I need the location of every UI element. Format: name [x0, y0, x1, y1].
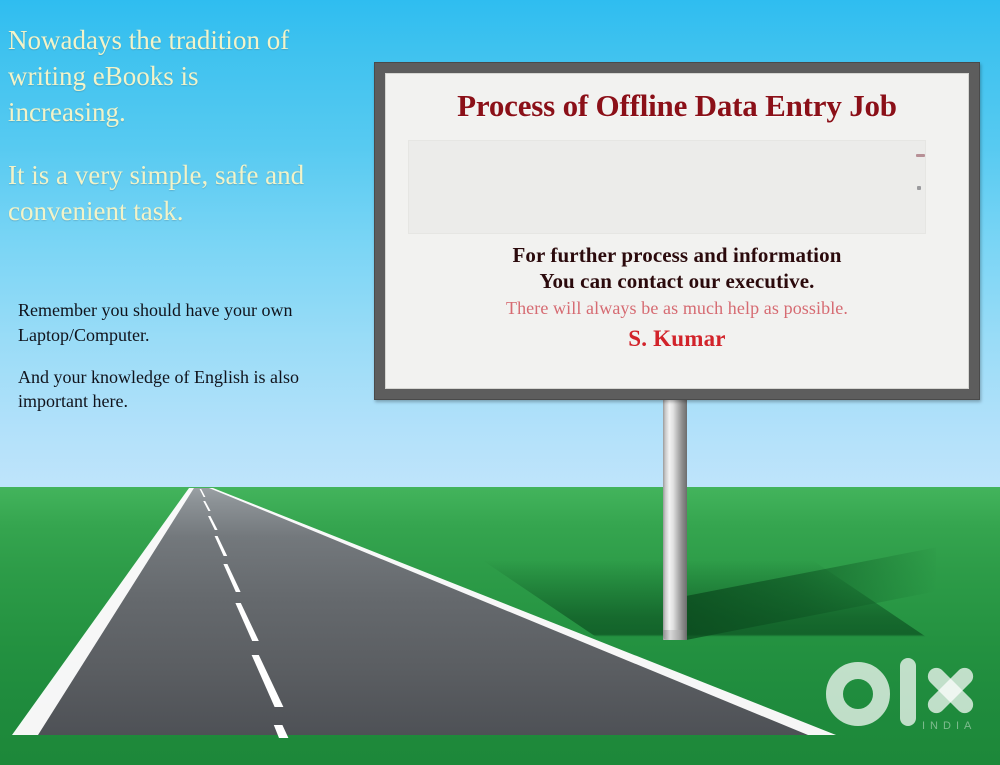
headline-spacer	[8, 131, 366, 157]
billboard-body-line-3: There will always be as much help as pos…	[396, 295, 958, 322]
billboard-pole-base	[663, 630, 687, 640]
billboard-blank-content-area	[408, 140, 926, 234]
notes-line-1: Remember you should have your own	[18, 298, 364, 323]
notes-text-block: Remember you should have your own Laptop…	[18, 298, 364, 414]
billboard-body-text: For further process and information You …	[386, 242, 968, 355]
notes-spacer	[18, 348, 364, 365]
stray-dash-mark	[916, 154, 925, 157]
billboard-inner-surface: Process of Offline Data Entry Job For fu…	[385, 73, 969, 389]
billboard-panel[interactable]: Process of Offline Data Entry Job For fu…	[374, 62, 980, 400]
billboard-body-line-1: For further process and information	[396, 242, 958, 268]
headline-line-5: convenient task.	[8, 193, 366, 229]
headline-line-4: It is a very simple, safe and	[8, 157, 366, 193]
billboard-signature: S. Kumar	[396, 322, 958, 355]
headline-text-block: Nowadays the tradition of writing eBooks…	[8, 22, 366, 229]
headline-line-3: increasing.	[8, 94, 366, 130]
notes-line-2: Laptop/Computer.	[18, 323, 364, 348]
notes-line-3: And your knowledge of English is also	[18, 365, 364, 390]
billboard-body-line-2: You can contact our executive.	[396, 268, 958, 294]
billboard-title: Process of Offline Data Entry Job	[386, 74, 968, 127]
billboard-pole	[663, 390, 687, 640]
headline-line-2: writing eBooks is	[8, 58, 366, 94]
stray-dot-mark	[917, 186, 921, 190]
notes-line-4: important here.	[18, 389, 364, 414]
billboard-advertisement-scene: Process of Offline Data Entry Job For fu…	[0, 0, 1000, 765]
headline-line-1: Nowadays the tradition of	[8, 22, 366, 58]
grass-field	[0, 487, 1000, 765]
